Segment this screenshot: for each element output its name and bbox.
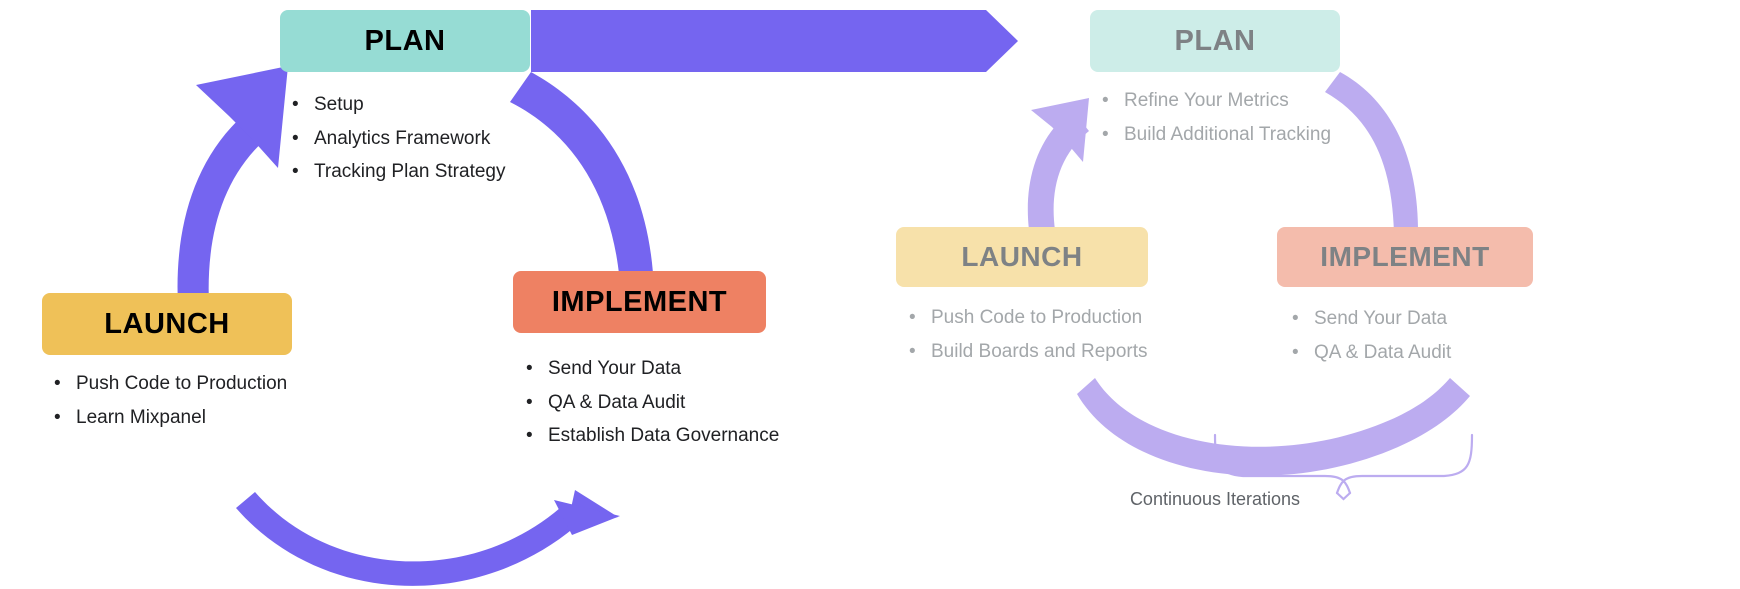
bullet-dot-icon: • bbox=[526, 386, 533, 420]
left-plan-title: PLAN bbox=[365, 25, 446, 58]
list-item-label: Send Your Data bbox=[1314, 308, 1447, 329]
left-launch-to-plan-arrow bbox=[178, 66, 288, 330]
bullet-dot-icon: • bbox=[54, 367, 61, 401]
bullet-dot-icon: • bbox=[1292, 336, 1299, 370]
list-item-label: Push Code to Production bbox=[76, 373, 287, 394]
list-item: •Push Code to Production bbox=[50, 367, 287, 401]
list-item-label: Analytics Framework bbox=[314, 128, 490, 149]
left-launch-bullet-list: •Push Code to Production •Learn Mixpanel bbox=[50, 367, 287, 434]
list-item-label: Refine Your Metrics bbox=[1124, 90, 1289, 111]
bullet-dot-icon: • bbox=[1102, 84, 1109, 118]
list-item: •Push Code to Production bbox=[905, 301, 1148, 335]
list-item: •Learn Mixpanel bbox=[50, 401, 287, 435]
right-plan-bullet-list: •Refine Your Metrics •Build Additional T… bbox=[1098, 84, 1331, 151]
list-item: •QA & Data Audit bbox=[522, 386, 779, 420]
right-implement-title: IMPLEMENT bbox=[1320, 241, 1489, 273]
list-item: •Analytics Framework bbox=[288, 122, 506, 156]
list-item: •Tracking Plan Strategy bbox=[288, 155, 506, 189]
list-item-label: Push Code to Production bbox=[931, 307, 1142, 328]
bullet-dot-icon: • bbox=[1292, 302, 1299, 336]
left-launch-title: LAUNCH bbox=[104, 308, 229, 341]
right-launch-to-plan-arrow bbox=[1028, 98, 1089, 230]
grow-arrow-banner: GROW bbox=[531, 10, 1018, 72]
list-item-label: Establish Data Governance bbox=[548, 425, 779, 446]
right-implement-to-launch-arrow bbox=[1077, 378, 1470, 476]
left-plan-bullet-list: •Setup •Analytics Framework •Tracking Pl… bbox=[288, 88, 506, 189]
list-item: •QA & Data Audit bbox=[1288, 336, 1451, 370]
left-implement-title: IMPLEMENT bbox=[552, 286, 727, 319]
bullet-dot-icon: • bbox=[1102, 118, 1109, 152]
diagram-canvas: GROW PLAN •Setup •Analytics Framework •T… bbox=[0, 0, 1740, 589]
list-item: •Send Your Data bbox=[522, 352, 779, 386]
bullet-dot-icon: • bbox=[909, 301, 916, 335]
list-item-label: Build Additional Tracking bbox=[1124, 124, 1331, 145]
bullet-dot-icon: • bbox=[292, 88, 299, 122]
right-implement-box[interactable]: IMPLEMENT bbox=[1277, 227, 1533, 287]
bullet-dot-icon: • bbox=[292, 122, 299, 156]
right-launch-title: LAUNCH bbox=[961, 241, 1082, 273]
left-plan-to-implement-arrow bbox=[510, 72, 654, 300]
list-item-label: QA & Data Audit bbox=[548, 392, 685, 413]
left-launch-box[interactable]: LAUNCH bbox=[42, 293, 292, 355]
left-implement-to-launch-arrow bbox=[236, 490, 620, 586]
list-item: •Send Your Data bbox=[1288, 302, 1451, 336]
right-launch-box[interactable]: LAUNCH bbox=[896, 227, 1148, 287]
bullet-dot-icon: • bbox=[292, 155, 299, 189]
right-plan-title: PLAN bbox=[1175, 25, 1256, 58]
grow-label: GROW bbox=[731, 25, 826, 58]
left-implement-bullet-list: •Send Your Data •QA & Data Audit •Establ… bbox=[522, 352, 779, 453]
list-item-label: Learn Mixpanel bbox=[76, 407, 206, 428]
bullet-dot-icon: • bbox=[526, 419, 533, 453]
list-item: •Refine Your Metrics bbox=[1098, 84, 1331, 118]
list-item-label: Tracking Plan Strategy bbox=[314, 161, 506, 182]
list-item: •Build Additional Tracking bbox=[1098, 118, 1331, 152]
left-plan-box[interactable]: PLAN bbox=[280, 10, 530, 72]
bullet-dot-icon: • bbox=[526, 352, 533, 386]
list-item: •Establish Data Governance bbox=[522, 419, 779, 453]
list-item-label: Build Boards and Reports bbox=[931, 341, 1148, 362]
right-implement-bullet-list: •Send Your Data •QA & Data Audit bbox=[1288, 302, 1451, 369]
list-item: •Setup bbox=[288, 88, 506, 122]
list-item-label: QA & Data Audit bbox=[1314, 342, 1451, 363]
list-item-label: Setup bbox=[314, 94, 364, 115]
right-launch-bullet-list: •Push Code to Production •Build Boards a… bbox=[905, 301, 1148, 368]
left-implement-box[interactable]: IMPLEMENT bbox=[513, 271, 766, 333]
right-plan-to-implement-arrow bbox=[1325, 72, 1418, 233]
bullet-dot-icon: • bbox=[54, 401, 61, 435]
list-item: •Build Boards and Reports bbox=[905, 335, 1148, 369]
list-item-label: Send Your Data bbox=[548, 358, 681, 379]
right-plan-box[interactable]: PLAN bbox=[1090, 10, 1340, 72]
continuous-iterations-label: Continuous Iterations bbox=[1055, 489, 1375, 510]
bullet-dot-icon: • bbox=[909, 335, 916, 369]
